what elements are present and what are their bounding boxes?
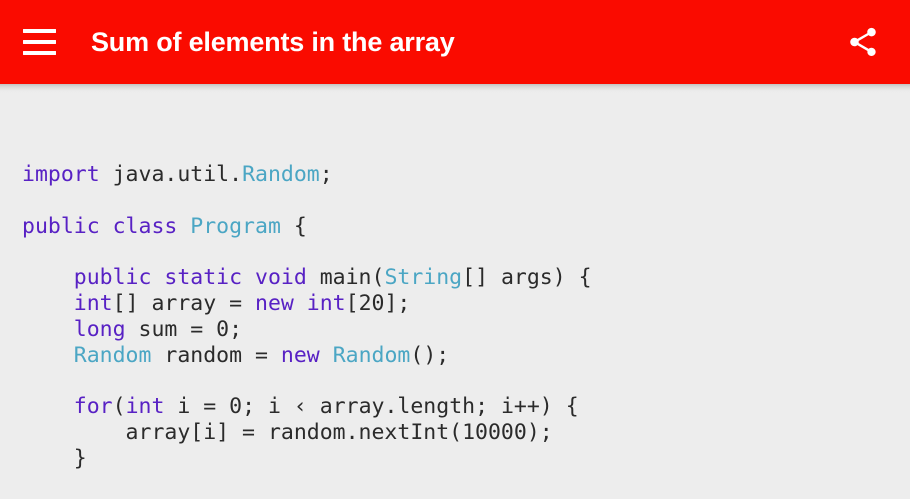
code-token: Random [242,162,320,187]
code-token [22,291,74,316]
app-bar: Sum of elements in the array [0,0,910,84]
code-token: ; [320,162,333,187]
code-token [22,343,74,368]
code-token [22,317,74,342]
code-token: (); [410,343,449,368]
code-token: } [22,446,87,471]
code-token: i = 0; i ‹ array.length; i++) { [164,394,578,419]
code-token: [] array = [113,291,255,316]
code-block: import java.util.Random; public class Pr… [22,162,592,472]
share-icon[interactable] [840,19,886,65]
hamburger-bar [23,40,56,44]
code-token: public class [22,214,190,239]
code-token: new int [255,291,346,316]
code-blank-line [22,368,592,394]
code-token: array[i] = random.nextInt(10000); [22,420,553,445]
code-token: Random [333,343,411,368]
code-token [22,265,74,290]
page-title: Sum of elements in the array [91,29,840,56]
code-token: Program [190,214,281,239]
code-token [320,343,333,368]
code-token: java.util. [100,162,242,187]
code-token: for [74,394,113,419]
code-token: sum = 0; [126,317,243,342]
hamburger-bar [23,51,56,55]
code-token: long [74,317,126,342]
code-blank-line [22,239,592,265]
app-bar-shadow [0,84,910,93]
hamburger-menu-icon[interactable] [18,20,62,64]
code-token: import [22,162,100,187]
app-screen: Sum of elements in the array import java… [0,0,910,499]
hamburger-bar [23,29,56,33]
code-token: Random [74,343,152,368]
code-blank-line [22,188,592,214]
code-token: random = [151,343,280,368]
code-token [22,394,74,419]
code-viewer[interactable]: import java.util.Random; public class Pr… [0,84,910,499]
code-token: String [384,265,462,290]
code-token: int [126,394,165,419]
code-token: { [281,214,307,239]
code-token: new [281,343,320,368]
code-token: ( [113,394,126,419]
code-token: public static void [74,265,307,290]
code-token: [] args) { [462,265,591,290]
code-token: main( [307,265,385,290]
code-token: [20]; [346,291,411,316]
code-token: int [74,291,113,316]
